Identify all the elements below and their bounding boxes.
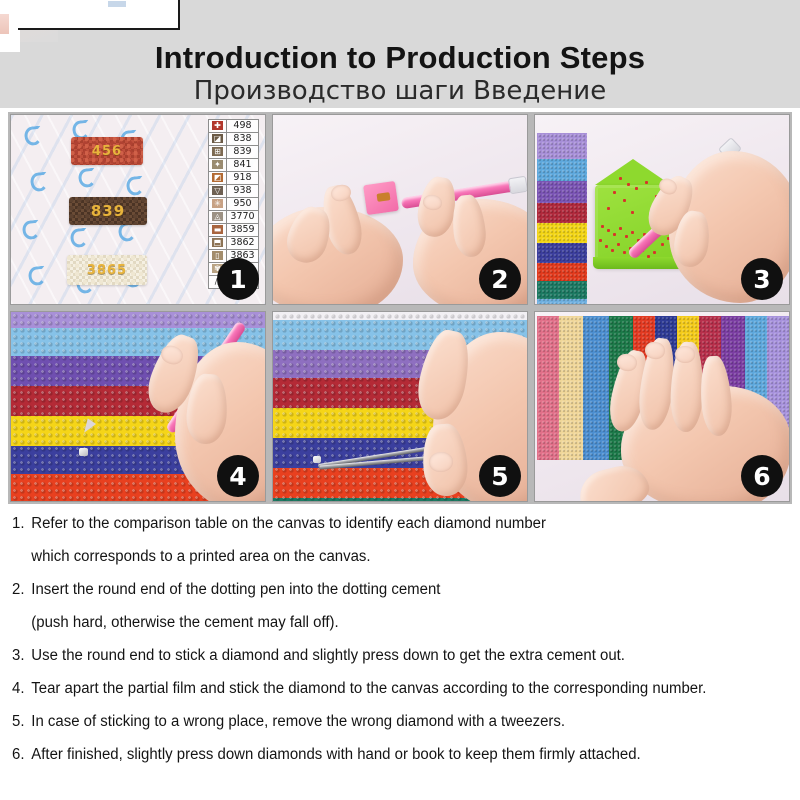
instruction-item: 2. Insert the round end of the dotting p…	[12, 582, 761, 615]
step-photo-3[interactable]: 3	[534, 114, 790, 305]
symbol-cell: ✳	[209, 198, 227, 211]
diamond-bag-label: 3865	[87, 263, 127, 278]
instruction-item-continuation: which corresponds to a printed area on t…	[12, 549, 761, 582]
tweezers-tip-diamond	[313, 456, 321, 463]
instruction-text: Refer to the comparison table on the can…	[31, 516, 546, 532]
instruction-item: 4. Tear apart the partial film and stick…	[12, 681, 761, 714]
instruction-text: In case of sticking to a wrong place, re…	[31, 714, 565, 730]
page-subtitle: Производство шаги Введение	[0, 76, 800, 106]
instruction-text: Tear apart the partial film and stick th…	[31, 681, 706, 697]
table-row: ⬒ 3862	[209, 237, 259, 250]
code-cell: 3862	[227, 237, 259, 250]
symbol-swatch: ✳	[212, 199, 223, 208]
table-row: ◩ 918	[209, 172, 259, 185]
instruction-item: 3. Use the round end to stick a diamond …	[12, 648, 761, 681]
table-row: ◪ 838	[209, 133, 259, 146]
symbol-swatch: ⬒	[212, 238, 223, 247]
diamond-on-tip	[79, 448, 88, 456]
corner-artifact-pink-sliver	[0, 14, 9, 34]
pen-cap	[508, 176, 528, 195]
symbol-swatch: ◩	[212, 173, 223, 182]
table-row: ✦ 841	[209, 159, 259, 172]
step-badge-6: 6	[741, 455, 783, 497]
step-photo-grid: 456 839 3865 ✚ 498 ◪ 838 ⊞ 839	[8, 112, 792, 504]
code-cell: 3859	[227, 224, 259, 237]
instruction-index: 5.	[12, 714, 31, 730]
canvas-stripes	[537, 133, 587, 305]
code-cell: 950	[227, 198, 259, 211]
instruction-index: 2.	[12, 582, 31, 598]
symbol-cell: ▽	[209, 185, 227, 198]
code-cell: 3770	[227, 211, 259, 224]
instruction-item: 5. In case of sticking to a wrong place,…	[12, 714, 761, 747]
instruction-item-continuation: (push hard, otherwise the cement may fal…	[12, 615, 761, 648]
symbol-swatch: ◪	[212, 134, 223, 143]
symbol-cell: ◩	[209, 172, 227, 185]
code-cell: 838	[227, 133, 259, 146]
poster-header: Introduction to Production Steps Произво…	[0, 0, 800, 108]
symbol-cell: ◪	[209, 133, 227, 146]
instruction-index: 3.	[12, 648, 31, 664]
code-cell: 498	[227, 120, 259, 133]
symbol-swatch: ▽	[212, 186, 223, 195]
table-row: ▬ 3859	[209, 224, 259, 237]
table-row: ✳ 950	[209, 198, 259, 211]
symbol-swatch: ✚	[212, 121, 223, 130]
instruction-item: 1. Refer to the comparison table on the …	[12, 516, 761, 549]
corner-artifact-blue-sliver	[108, 1, 126, 7]
symbol-cell: ⬒	[209, 237, 227, 250]
table-row: ✚ 498	[209, 120, 259, 133]
diamond-bag-label: 839	[91, 202, 125, 220]
symbol-swatch: ⊞	[212, 147, 223, 156]
instruction-text: Insert the round end of the dotting pen …	[31, 582, 440, 598]
instruction-text: Use the round end to stick a diamond and…	[31, 648, 625, 664]
page-title: Introduction to Production Steps	[0, 40, 800, 76]
table-row: ◬ 3770	[209, 211, 259, 224]
symbol-swatch: ◬	[212, 212, 223, 221]
instruction-item: 6. After finished, slightly press down d…	[12, 747, 761, 780]
diamond-bag: 839	[69, 197, 147, 225]
symbol-cell: ▯	[209, 250, 227, 263]
diamond-bag: 456	[71, 137, 143, 165]
code-cell: 839	[227, 146, 259, 159]
instruction-text: After finished, slightly press down diam…	[31, 747, 640, 763]
instruction-text: (push hard, otherwise the cement may fal…	[31, 615, 338, 631]
symbol-cell: ✚	[209, 120, 227, 133]
instruction-list: 1. Refer to the comparison table on the …	[0, 506, 800, 800]
symbol-swatch: ▯	[212, 251, 223, 260]
table-row: ⊞ 839	[209, 146, 259, 159]
symbol-cell: ⊞	[209, 146, 227, 159]
symbol-swatch: ✦	[212, 160, 223, 169]
symbol-cell: ▬	[209, 224, 227, 237]
diamond-bag-label: 456	[92, 144, 122, 159]
production-steps-poster: Introduction to Production Steps Произво…	[0, 0, 800, 800]
symbol-swatch: ▬	[212, 225, 223, 234]
step-photo-1[interactable]: 456 839 3865 ✚ 498 ◪ 838 ⊞ 839	[10, 114, 266, 305]
corner-artifact-outline	[18, 0, 180, 30]
step-badge-5: 5	[479, 455, 521, 497]
diamond-bag: 3865	[67, 255, 147, 285]
step-photo-2[interactable]: 2	[272, 114, 528, 305]
step-badge-2: 2	[479, 258, 521, 300]
step-photo-4[interactable]: 4	[10, 311, 266, 502]
instruction-index: 1.	[12, 516, 31, 532]
instruction-index: 4.	[12, 681, 31, 697]
symbol-cell: ✦	[209, 159, 227, 172]
step-photo-5[interactable]: 5	[272, 311, 528, 502]
table-row: ▽ 938	[209, 185, 259, 198]
fingernail	[675, 346, 696, 364]
step-photo-6[interactable]: 6	[534, 311, 790, 502]
symbol-cell: ◬	[209, 211, 227, 224]
code-cell: 918	[227, 172, 259, 185]
instruction-text: which corresponds to a printed area on t…	[31, 549, 370, 565]
code-cell: 938	[227, 185, 259, 198]
step-badge-1: 1	[217, 258, 259, 300]
striped-canvas-strip	[537, 133, 587, 305]
step-badge-4: 4	[217, 455, 259, 497]
code-cell: 841	[227, 159, 259, 172]
step-badge-3: 3	[741, 258, 783, 300]
instruction-index: 6.	[12, 747, 31, 763]
